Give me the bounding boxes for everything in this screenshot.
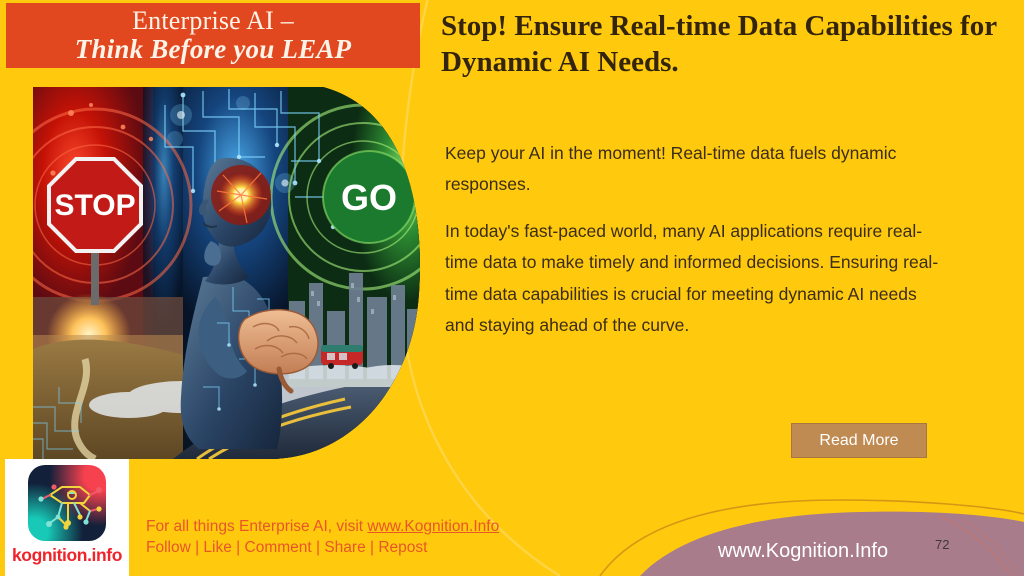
footer-text: For all things Enterprise AI, visit www.… [146,517,499,559]
slide-canvas: Enterprise AI – Think Before you LEAP [0,0,1024,576]
footer-line-1-prefix: For all things Enterprise AI, visit [146,518,367,535]
footer-line-2: Follow | Like | Comment | Share | Repost [146,538,499,559]
header-banner: Enterprise AI – Think Before you LEAP [6,3,420,68]
body-paragraph-1: Keep your AI in the moment! Real-time da… [445,138,945,200]
kognition-link[interactable]: www.Kognition.Info [367,518,499,535]
logo-wordmark: kognition.info [12,545,122,566]
logo-card[interactable]: kognition.info [5,459,129,576]
page-title: Stop! Ensure Real-time Data Capabilities… [441,8,1001,81]
kognition-circuit-logo-icon [28,465,106,541]
svg-text:STOP: STOP [54,189,135,222]
header-line-1: Enterprise AI – [132,7,294,34]
hero-illustration: STOP GO [33,87,423,459]
page-number: 72 [935,537,949,552]
site-url-label: www.Kognition.Info [718,540,888,563]
body-copy: Keep your AI in the moment! Real-time da… [445,138,945,341]
read-more-button[interactable]: Read More [791,423,927,458]
header-line-2: Think Before you LEAP [75,34,351,64]
go-sign-graphic: GO [323,151,415,243]
svg-text:GO: GO [341,177,397,218]
body-paragraph-2: In today's fast-paced world, many AI app… [445,216,945,341]
footer-line-1: For all things Enterprise AI, visit www.… [146,517,499,538]
hero-illustration-art: STOP GO [33,87,423,459]
